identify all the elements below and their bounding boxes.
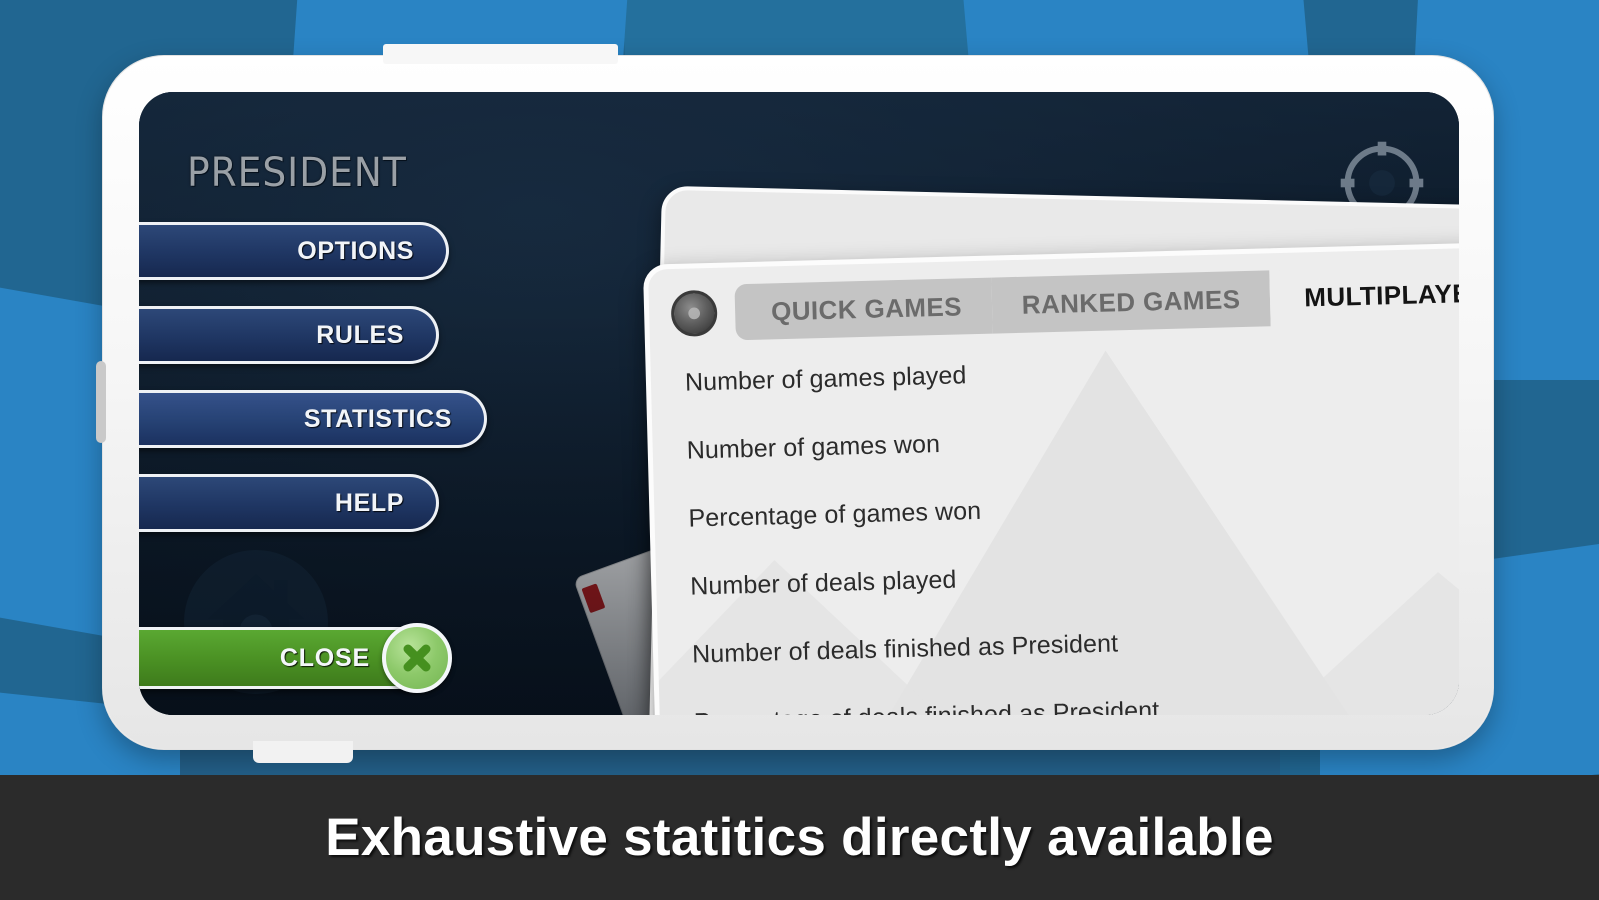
caption-bar: Exhaustive statitics directly available (0, 775, 1599, 900)
close-button[interactable]: CLOSE (139, 627, 449, 689)
stats-list: Number of games played 13 Number of game… (672, 325, 1459, 715)
stat-label: Number of games played (685, 361, 967, 397)
menu-item-label: HELP (335, 489, 404, 518)
stats-panel: QUICK GAMES RANKED GAMES MULTIPLAYER (643, 239, 1459, 715)
tab-label: QUICK GAMES (771, 291, 962, 327)
stat-label: Percentage of deals finished as Presiden… (694, 696, 1160, 715)
sidebar-item-statistics[interactable]: STATISTICS (139, 390, 487, 448)
main-menu: OPTIONS RULES STATISTICS HELP (139, 222, 459, 558)
tab-label: RANKED GAMES (1021, 284, 1240, 321)
tab-label: MULTIPLAYER (1304, 277, 1459, 313)
phone-screen: PRESIDENT OPTIONS RULES STATISTICS HELP … (139, 92, 1459, 715)
stat-label: Number of games won (686, 429, 940, 465)
screenshot-stage: PRESIDENT OPTIONS RULES STATISTICS HELP … (0, 0, 1599, 900)
menu-item-label: STATISTICS (304, 405, 452, 434)
stat-label: Number of deals finished as President (692, 629, 1119, 669)
sidebar-item-help[interactable]: HELP (139, 474, 439, 532)
tab-multiplayer[interactable]: MULTIPLAYER (1270, 264, 1459, 326)
device-top-notch (383, 44, 618, 64)
menu-item-label: OPTIONS (297, 237, 414, 266)
tab-ranked-games[interactable]: RANKED GAMES (991, 270, 1271, 333)
close-x-icon[interactable] (382, 623, 452, 693)
device-volume-button[interactable] (96, 361, 106, 443)
sidebar-item-options[interactable]: OPTIONS (139, 222, 449, 280)
tab-quick-games[interactable]: QUICK GAMES (734, 278, 992, 341)
tab-strip: QUICK GAMES RANKED GAMES MULTIPLAYER (734, 262, 1459, 340)
menu-item-label: RULES (316, 321, 404, 350)
page-title: PRESIDENT (187, 150, 407, 196)
caption-text: Exhaustive statitics directly available (325, 807, 1274, 868)
stat-label: Percentage of games won (688, 496, 981, 533)
back-circle-icon[interactable] (671, 290, 718, 337)
device-bottom-notch (253, 741, 353, 763)
sidebar-item-rules[interactable]: RULES (139, 306, 439, 364)
stat-label: Number of deals played (690, 565, 957, 601)
phone-device: PRESIDENT OPTIONS RULES STATISTICS HELP … (102, 55, 1494, 750)
close-button-label: CLOSE (280, 644, 370, 673)
